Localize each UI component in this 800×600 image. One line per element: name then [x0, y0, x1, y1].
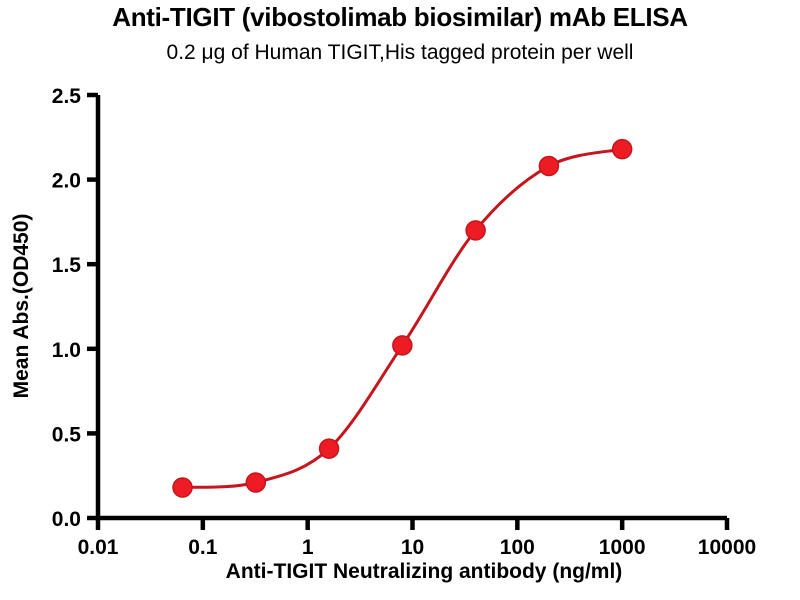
y-axis: 0.00.51.01.52.02.5: [52, 85, 98, 531]
plot-area: 0.00.51.01.52.02.5 0.010.111010010001000…: [0, 0, 800, 600]
x-axis-tick-label: 0.01: [78, 536, 119, 559]
y-axis-tick-label: 0.0: [52, 508, 81, 531]
elisa-chart-figure: Anti-TIGIT (vibostolimab biosimilar) mAb…: [0, 0, 800, 600]
data-point-marker: [613, 140, 632, 159]
x-axis-tick-label: 100: [500, 536, 535, 559]
data-point-marker: [246, 473, 265, 492]
y-axis-tick-label: 1.0: [52, 339, 81, 362]
x-axis-tick-label: 1: [302, 536, 314, 559]
y-axis-tick-label: 2.5: [52, 85, 82, 108]
x-axis-title: Anti-TIGIT Neutralizing antibody (ng/ml): [226, 560, 623, 583]
data-series-group: [173, 140, 632, 497]
data-point-marker: [466, 221, 485, 240]
x-axis: 0.010.1110100100010000: [78, 518, 757, 559]
fit-curve: [183, 149, 623, 487]
x-axis-tick-label: 1000: [599, 536, 646, 559]
data-point-marker: [320, 439, 339, 458]
y-axis-tick-label: 1.5: [52, 254, 82, 277]
y-axis-tick-label: 0.5: [52, 423, 82, 446]
y-axis-tick-label: 2.0: [52, 170, 81, 193]
x-axis-tick-label: 10000: [698, 536, 756, 559]
data-point-marker: [173, 478, 192, 497]
x-axis-tick-label: 0.1: [188, 536, 218, 559]
data-point-marker: [539, 157, 558, 176]
y-axis-title: Mean Abs.(OD450): [10, 214, 33, 399]
x-axis-tick-label: 10: [401, 536, 424, 559]
data-point-marker: [393, 336, 412, 355]
